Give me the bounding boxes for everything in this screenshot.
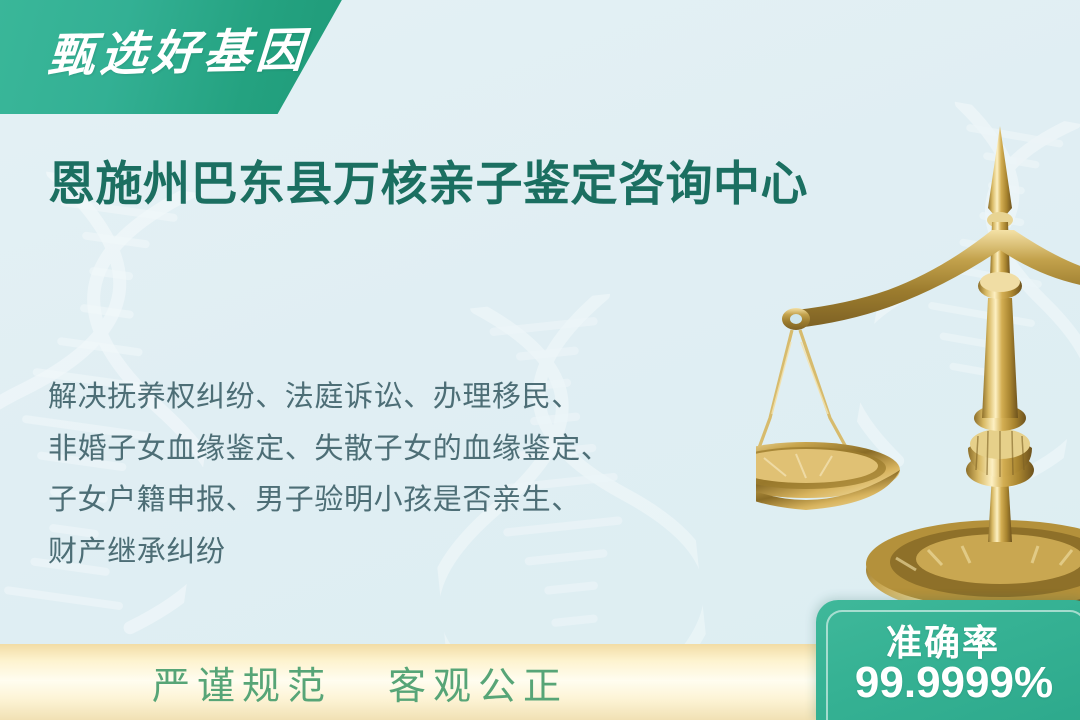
description-line: 子女户籍申报、男子验明小孩是否亲生、 [48,475,738,527]
description-line: 财产继承纠纷 [48,527,738,579]
page-title: 恩施州巴东县万核亲子鉴定咨询中心 [48,153,860,215]
slogan-item: 严谨规范 [152,655,332,710]
dna-helix-icon-right [849,95,1080,506]
logo-text: 甄选好基因 [46,27,310,79]
slogan-group: 严谨规范 客观公正 [152,644,568,720]
description-line: 非婚子女血缘鉴定、失散子女的血缘鉴定、 [48,424,738,476]
service-description: 解决抚养权纠纷、法庭诉讼、办理移民、 非婚子女血缘鉴定、失散子女的血缘鉴定、 子… [48,372,738,578]
slogan-item: 客观公正 [388,655,568,710]
promotional-poster: 甄选好基因 恩施州巴东县万核亲子鉴定咨询中心 解决抚养权纠纷、法庭诉讼、办理移民… [0,0,1080,720]
description-line: 解决抚养权纠纷、法庭诉讼、办理移民、 [48,372,738,424]
accuracy-value: 99.9999% [816,658,1080,708]
accuracy-badge: 准确率 99.9999% [816,600,1080,720]
